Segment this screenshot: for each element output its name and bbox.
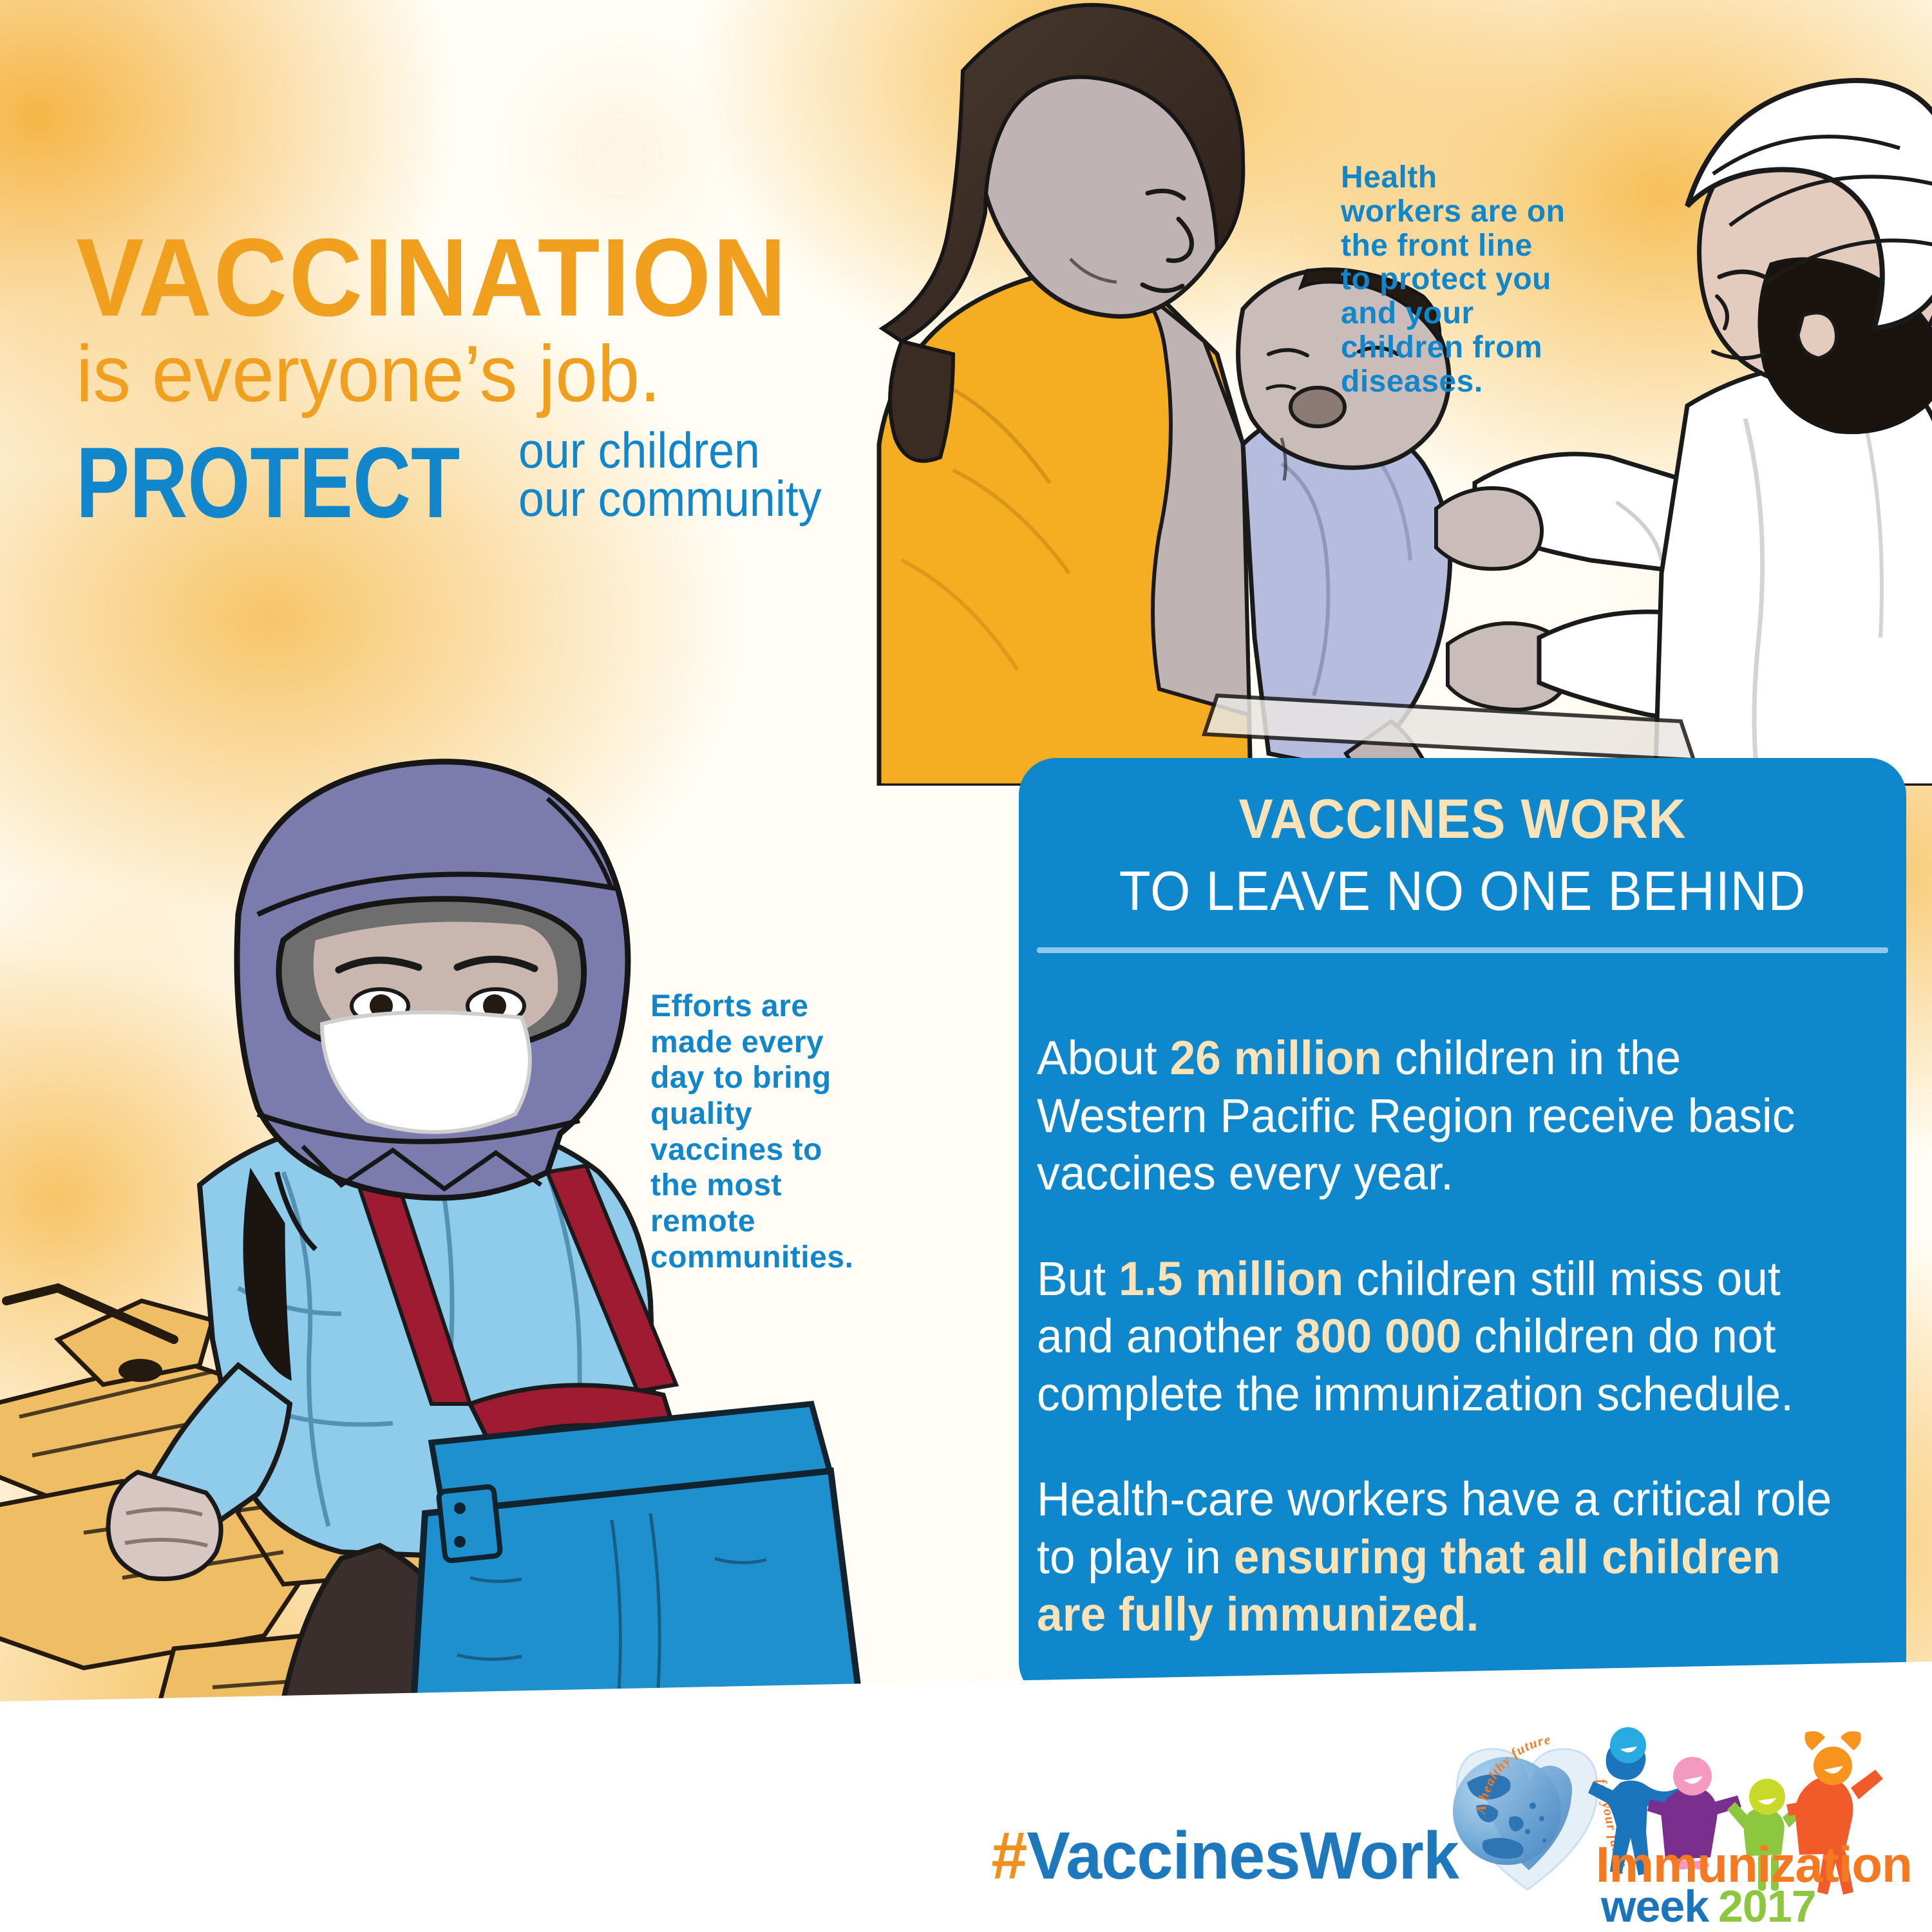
vaccines-work-panel: VACCINES WORK TO LEAVE NO ONE BEHIND Abo…	[1019, 758, 1906, 1700]
emphasis-segment: 1.5 million	[1119, 1252, 1343, 1305]
panel-divider	[1037, 947, 1888, 953]
logo-word-week: week	[1600, 1881, 1709, 1926]
immunization-week-logo: A healthy future for your family	[1448, 1721, 1911, 1926]
logo-year: 2017	[1718, 1881, 1816, 1926]
hashtag-label: VaccinesWork	[1027, 1819, 1459, 1893]
panel-heading-secondary: TO LEAVE NO ONE BEHIND	[1050, 864, 1875, 919]
caption-efforts: Efforts are made every day to bring qual…	[650, 989, 863, 1275]
headline-our-children: our children	[518, 426, 822, 475]
emphasis-segment: 800 000	[1295, 1309, 1461, 1363]
text-segment: About	[1037, 1031, 1170, 1084]
panel-heading-primary: VACCINES WORK	[1050, 791, 1875, 847]
infographic-poster: Health workers are on the front line to …	[0, 0, 1932, 1932]
panel-paragraph-3: Health-care workers have a critical role…	[1037, 1470, 1857, 1643]
panel-paragraph-2: But 1.5 million children still miss out …	[1037, 1250, 1857, 1423]
hashtag-vaccineswork[interactable]: #VaccinesWork	[991, 1823, 1459, 1889]
headline-protect-subtext: our children our community	[518, 426, 848, 528]
headline-protect-row: PROTECT our children our community	[76, 426, 900, 528]
headline-vaccination: VACCINATION	[76, 227, 835, 328]
text-segment: But	[1037, 1252, 1119, 1305]
headline-protect: PROTECT	[76, 439, 460, 527]
headline-our-community: our community	[518, 475, 822, 523]
headline-everyones-job: is everyone’s job.	[76, 332, 859, 417]
panel-body: About 26 million children in the Western…	[1019, 953, 1906, 1643]
hash-symbol: #	[991, 1819, 1027, 1893]
caption-health-workers: Health workers are on the front line to …	[1341, 161, 1566, 399]
headline-block: VACCINATION is everyone’s job. PROTECT o…	[76, 227, 900, 527]
emphasis-segment: 26 million	[1170, 1031, 1381, 1084]
panel-paragraph-1: About 26 million children in the Western…	[1037, 1029, 1857, 1202]
